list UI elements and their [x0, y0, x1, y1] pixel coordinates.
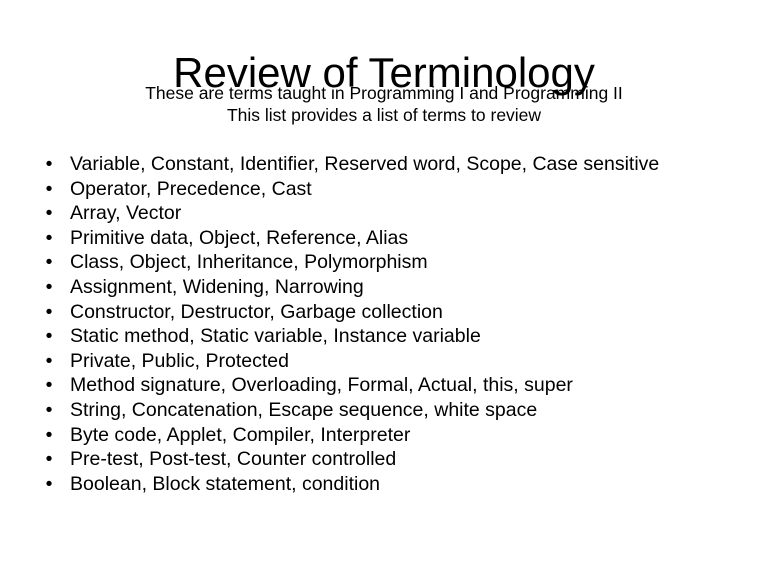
list-item-label: Assignment, Widening, Narrowing: [70, 276, 364, 298]
bullet-dot-icon: •: [44, 472, 54, 497]
list-item-label: Constructor, Destructor, Garbage collect…: [70, 301, 443, 323]
list-item: • Array, Vector: [40, 201, 740, 226]
list-item: • Method signature, Overloading, Formal,…: [40, 373, 740, 398]
list-item: • Class, Object, Inheritance, Polymorphi…: [40, 250, 740, 275]
list-item-label: Pre-test, Post-test, Counter controlled: [70, 448, 396, 470]
list-item-label: Variable, Constant, Identifier, Reserved…: [70, 153, 659, 175]
bullet-dot-icon: •: [44, 275, 54, 300]
bullet-dot-icon: •: [44, 300, 54, 325]
bullet-dot-icon: •: [44, 177, 54, 202]
list-item: • Variable, Constant, Identifier, Reserv…: [40, 152, 740, 177]
list-item: • Primitive data, Object, Reference, Ali…: [40, 226, 740, 251]
list-item-label: Primitive data, Object, Reference, Alias: [70, 227, 408, 249]
bullet-dot-icon: •: [44, 447, 54, 472]
list-item: • String, Concatenation, Escape sequence…: [40, 398, 740, 423]
bullet-dot-icon: •: [44, 373, 54, 398]
slide-subtitle: These are terms taught in Programming I …: [0, 82, 768, 126]
list-item: • Boolean, Block statement, condition: [40, 472, 740, 497]
subtitle-line-2: This list provides a list of terms to re…: [0, 104, 768, 126]
bullet-dot-icon: •: [44, 349, 54, 374]
list-item-label: Byte code, Applet, Compiler, Interpreter: [70, 424, 410, 446]
list-item: • Operator, Precedence, Cast: [40, 177, 740, 202]
list-item-label: String, Concatenation, Escape sequence, …: [70, 399, 537, 421]
list-item: • Assignment, Widening, Narrowing: [40, 275, 740, 300]
list-item: • Pre-test, Post-test, Counter controlle…: [40, 447, 740, 472]
terminology-bullet-list: • Variable, Constant, Identifier, Reserv…: [40, 152, 740, 496]
list-item-label: Class, Object, Inheritance, Polymorphism: [70, 251, 428, 273]
list-item: • Static method, Static variable, Instan…: [40, 324, 740, 349]
list-item-label: Method signature, Overloading, Formal, A…: [70, 374, 573, 396]
list-item: • Constructor, Destructor, Garbage colle…: [40, 300, 740, 325]
list-item-label: Array, Vector: [70, 202, 181, 224]
bullet-dot-icon: •: [44, 324, 54, 349]
bullet-dot-icon: •: [44, 423, 54, 448]
list-item: • Private, Public, Protected: [40, 349, 740, 374]
subtitle-line-1: These are terms taught in Programming I …: [0, 82, 768, 104]
bullet-dot-icon: •: [44, 250, 54, 275]
list-item-label: Boolean, Block statement, condition: [70, 473, 380, 495]
bullet-dot-icon: •: [44, 201, 54, 226]
bullet-dot-icon: •: [44, 152, 54, 177]
bullet-dot-icon: •: [44, 398, 54, 423]
list-item-label: Static method, Static variable, Instance…: [70, 325, 481, 347]
list-item-label: Operator, Precedence, Cast: [70, 178, 312, 200]
bullet-dot-icon: •: [44, 226, 54, 251]
list-item-label: Private, Public, Protected: [70, 350, 289, 372]
list-item: • Byte code, Applet, Compiler, Interpret…: [40, 423, 740, 448]
presentation-slide: Review of Terminology These are terms ta…: [0, 0, 768, 576]
